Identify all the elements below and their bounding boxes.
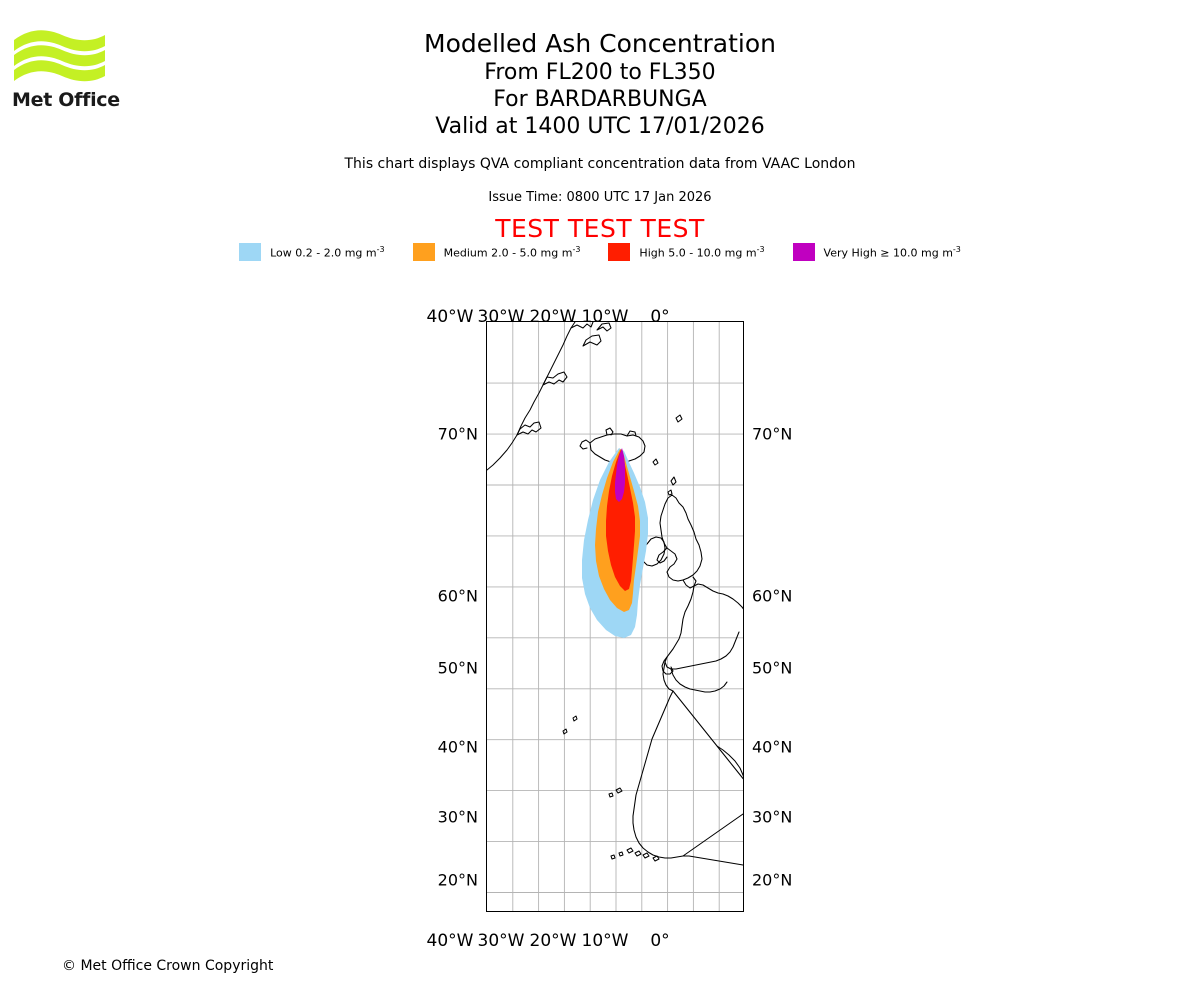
legend-sup-medium: -3 (572, 245, 580, 254)
qva-note: This chart displays QVA compliant concen… (0, 156, 1200, 172)
volcano-line: For BARDARBUNGA (0, 86, 1200, 113)
legend-item-very-high: Very High ≥ 10.0 mg m-3 (793, 243, 961, 261)
lat-tick-left-50: 50°N (438, 659, 478, 678)
legend-sup-low: -3 (377, 245, 385, 254)
chart-title-block: Modelled Ash Concentration From FL200 to… (0, 28, 1200, 140)
concentration-legend: Low 0.2 - 2.0 mg m-3 Medium 2.0 - 5.0 mg… (0, 243, 1200, 261)
latitude-axis-left: 70°N 60°N 50°N 40°N 30°N 20°N (420, 321, 478, 912)
lon-tick-bottom-0: 40°W (427, 931, 474, 951)
legend-swatch-high (608, 243, 630, 261)
lat-tick-left-60: 60°N (438, 587, 478, 606)
lat-tick-right-50: 50°N (752, 659, 792, 678)
lat-tick-right-70: 70°N (752, 425, 792, 444)
legend-sup-high: -3 (757, 245, 765, 254)
legend-label-high: High 5.0 - 10.0 mg m-3 (639, 245, 764, 260)
lon-tick-bottom-1: 30°W (478, 931, 525, 951)
lat-tick-right-30: 30°N (752, 808, 792, 827)
valid-time-line: Valid at 1400 UTC 17/01/2026 (0, 113, 1200, 140)
issue-time: Issue Time: 0800 UTC 17 Jan 2026 (0, 190, 1200, 205)
test-banner: TEST TEST TEST (0, 214, 1200, 243)
lat-tick-left-40: 40°N (438, 738, 478, 757)
lat-tick-right-40: 40°N (752, 738, 792, 757)
lon-tick-bottom-4: 0° (650, 931, 669, 951)
longitude-axis-bottom: 40°W 30°W 20°W 10°W 0° (0, 916, 1200, 936)
ash-concentration-map[interactable] (486, 321, 744, 912)
ash-plume (582, 448, 648, 638)
latitude-axis-right: 70°N 60°N 50°N 40°N 30°N 20°N (752, 321, 812, 912)
map-frame (486, 321, 744, 912)
legend-sup-very-high: -3 (953, 245, 961, 254)
legend-swatch-low (239, 243, 261, 261)
legend-swatch-very-high (793, 243, 815, 261)
legend-label-low: Low 0.2 - 2.0 mg m-3 (270, 245, 385, 260)
legend-item-high: High 5.0 - 10.0 mg m-3 (608, 243, 764, 261)
map-canvas (487, 322, 744, 912)
legend-label-medium: Medium 2.0 - 5.0 mg m-3 (444, 245, 581, 260)
lon-tick-bottom-2: 20°W (530, 931, 577, 951)
legend-item-low: Low 0.2 - 2.0 mg m-3 (239, 243, 385, 261)
legend-label-very-high: Very High ≥ 10.0 mg m-3 (824, 245, 961, 260)
copyright-notice: © Met Office Crown Copyright (62, 958, 273, 974)
legend-item-medium: Medium 2.0 - 5.0 mg m-3 (413, 243, 581, 261)
lat-tick-left-30: 30°N (438, 808, 478, 827)
longitude-axis-top: 40°W 30°W 20°W 10°W 0° (0, 292, 1200, 312)
page-title: Modelled Ash Concentration (0, 28, 1200, 59)
lat-tick-left-70: 70°N (438, 425, 478, 444)
lat-tick-left-20: 20°N (438, 871, 478, 890)
lon-tick-bottom-3: 10°W (582, 931, 629, 951)
flight-level-line: From FL200 to FL350 (0, 59, 1200, 86)
lat-tick-right-20: 20°N (752, 871, 792, 890)
legend-swatch-medium (413, 243, 435, 261)
lat-tick-right-60: 60°N (752, 587, 792, 606)
